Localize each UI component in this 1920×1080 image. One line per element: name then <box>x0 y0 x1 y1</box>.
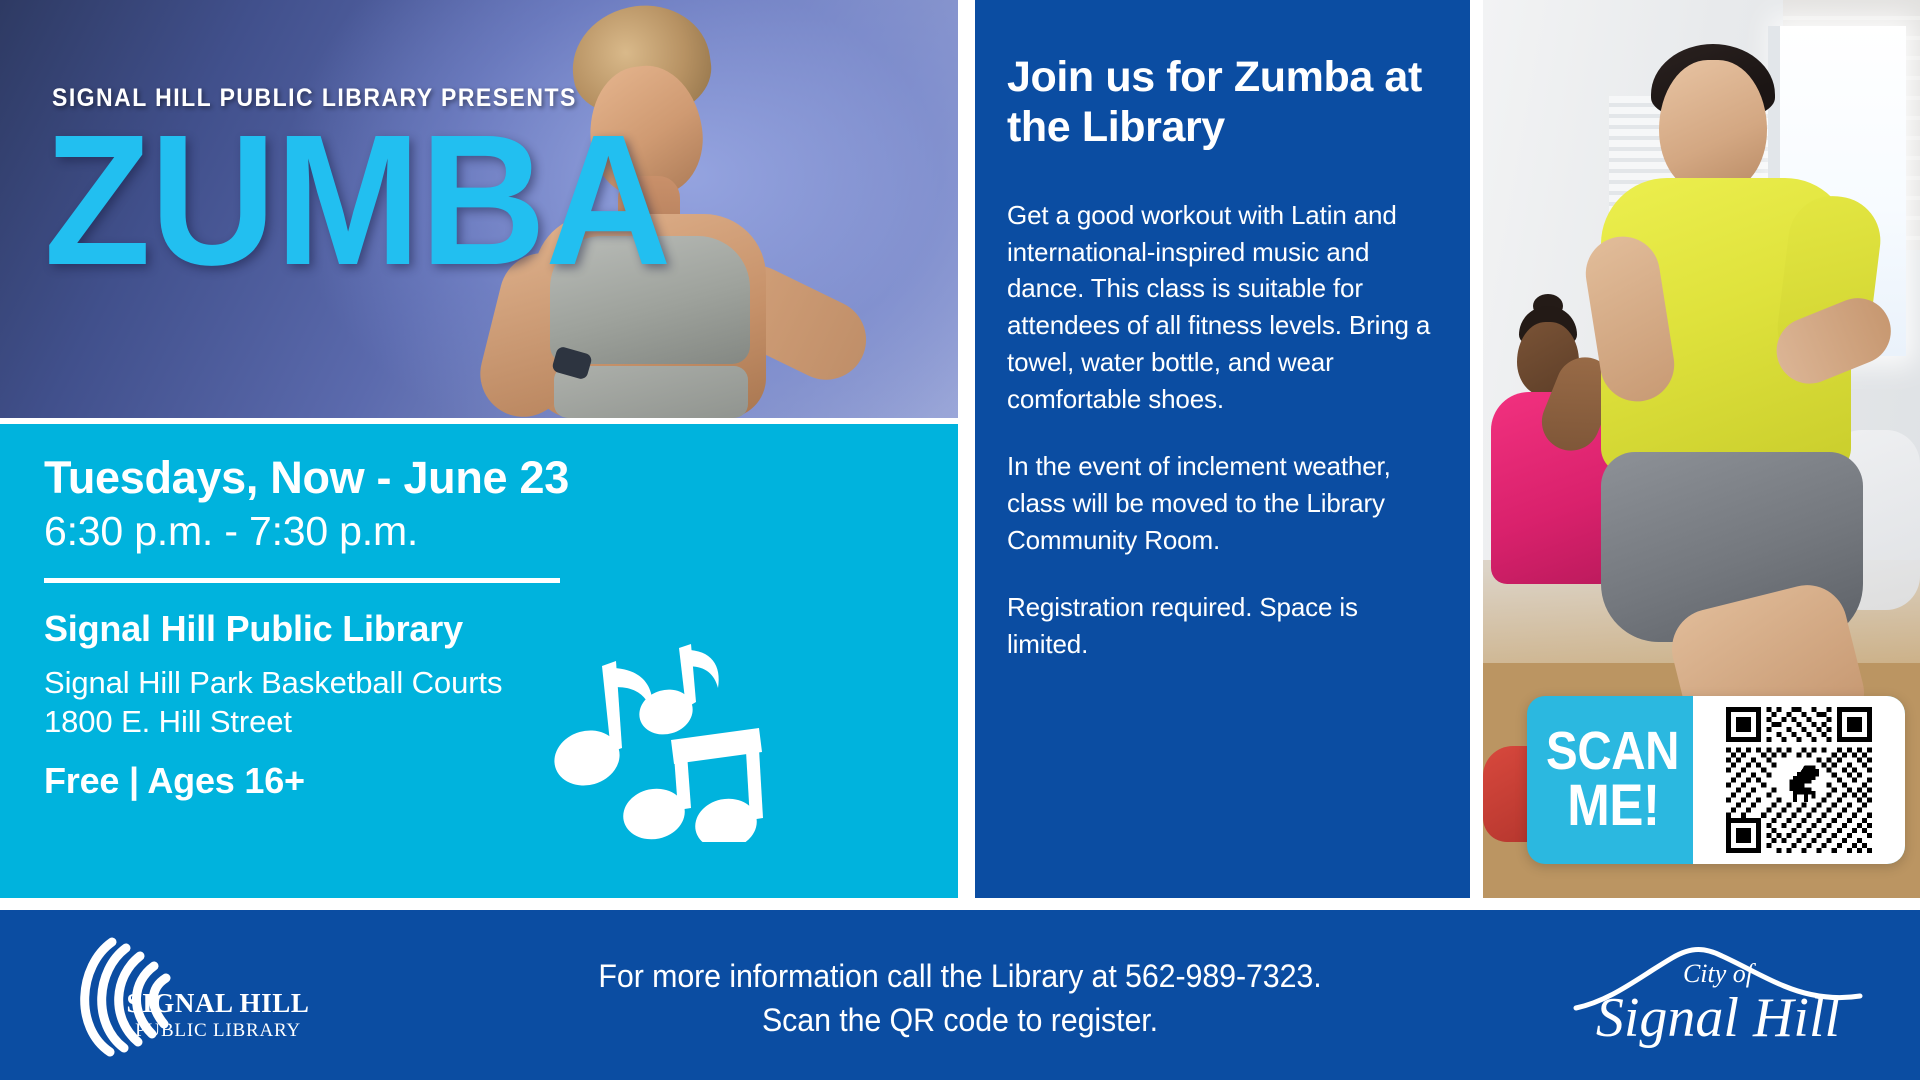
footer-scan-line: Scan the QR code to register. <box>447 998 1473 1042</box>
library-logo-line1: SIGNAL HILL <box>118 988 318 1019</box>
hero-banner: SIGNAL HILL PUBLIC LIBRARY PRESENTS ZUMB… <box>0 0 958 418</box>
scan-label-line1: SCAN <box>1547 726 1680 778</box>
event-date: Tuesdays, Now - June 23 <box>44 452 664 503</box>
footer-contact-text: For more information call the Library at… <box>420 954 1500 1042</box>
page-title: ZUMBA <box>44 112 671 291</box>
library-logo-wordmark: SIGNAL HILL PUBLIC LIBRARY <box>118 988 318 1042</box>
svg-text:City of: City of <box>1683 959 1757 988</box>
city-of-signal-hill-logo-icon: City of Signal Hill <box>1568 934 1868 1058</box>
scan-me-badge[interactable]: SCAN ME! <box>1527 696 1905 864</box>
qr-code[interactable] <box>1693 696 1905 864</box>
flyer-page: SIGNAL HILL PUBLIC LIBRARY PRESENTS ZUMB… <box>0 0 1920 1080</box>
footer-phone-line: For more information call the Library at… <box>447 954 1473 998</box>
description-paragraph: Registration required. Space is limited. <box>1007 589 1432 663</box>
scan-label-line2: ME! <box>1567 778 1659 834</box>
event-details-panel: Tuesdays, Now - June 23 6:30 p.m. - 7:30… <box>0 424 958 898</box>
footer-bar: SIGNAL HILL PUBLIC LIBRARY For more info… <box>0 910 1920 1080</box>
svg-text:Signal Hill: Signal Hill <box>1596 987 1840 1049</box>
scan-me-label: SCAN ME! <box>1527 696 1693 864</box>
divider-rule <box>44 578 560 583</box>
qr-code-icon <box>1726 707 1872 853</box>
description-heading: Join us for Zumba at the Library <box>1007 52 1432 153</box>
music-notes-icon <box>544 642 776 842</box>
description-paragraph: Get a good workout with Latin and intern… <box>1007 197 1432 418</box>
description-body: Get a good workout with Latin and intern… <box>1007 197 1432 663</box>
library-logo-line2: PUBLIC LIBRARY <box>118 1020 318 1042</box>
description-panel: Join us for Zumba at the Library Get a g… <box>975 0 1470 898</box>
event-time: 6:30 p.m. - 7:30 p.m. <box>44 507 664 556</box>
description-paragraph: In the event of inclement weather, class… <box>1007 448 1432 559</box>
